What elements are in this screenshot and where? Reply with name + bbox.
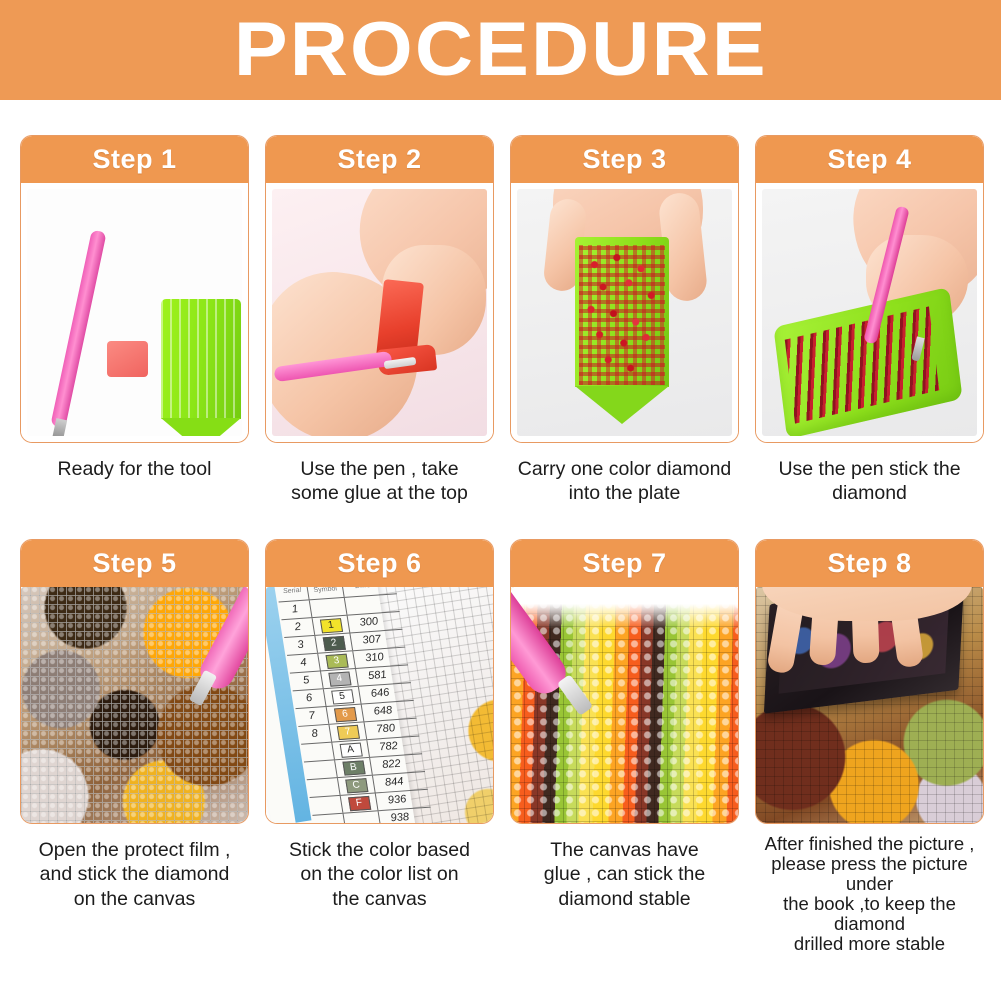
step-caption-3: Carry one color diamond into the plate bbox=[507, 457, 742, 506]
step-image-2 bbox=[266, 183, 493, 442]
symbol-swatch: 2 bbox=[322, 635, 345, 650]
step-image-4 bbox=[756, 183, 983, 442]
step-header-label-4: Step 4 bbox=[827, 144, 911, 175]
cell-symbol: B bbox=[335, 758, 373, 777]
cell-serial bbox=[307, 778, 341, 797]
procedure-grid: Step 1 Ready for the tool Step bbox=[0, 135, 1001, 954]
step-header-6: Step 6 bbox=[266, 540, 493, 587]
cell-symbol: 1 bbox=[313, 615, 351, 634]
green-tray-icon bbox=[161, 299, 241, 419]
step-image-7 bbox=[511, 587, 738, 823]
step-cell-6: Step 6 Serial Symbol DMC bbox=[265, 539, 494, 954]
cell-dmc: 780 bbox=[365, 719, 408, 739]
cell-symbol bbox=[344, 811, 382, 823]
step-card-8: Step 8 bbox=[755, 539, 984, 824]
cell-symbol: 4 bbox=[321, 669, 359, 688]
step-card-4: Step 4 bbox=[755, 135, 984, 443]
step-caption-8: After finished the picture , please pres… bbox=[752, 834, 987, 954]
step-caption-4: Use the pen stick the diamond bbox=[752, 457, 987, 506]
green-tray-point-icon bbox=[161, 418, 241, 436]
step-image-6: Serial Symbol DMC 1213003230743310545816… bbox=[266, 587, 493, 823]
step-header-3: Step 3 bbox=[511, 136, 738, 183]
step-card-1: Step 1 bbox=[20, 135, 249, 443]
cell-serial bbox=[313, 813, 347, 822]
step-card-3: Step 3 bbox=[510, 135, 739, 443]
canvas-mosaic-photo bbox=[21, 587, 248, 823]
mosaic-texture bbox=[21, 587, 248, 823]
cell-serial: 7 bbox=[296, 707, 330, 726]
cell-serial: 5 bbox=[290, 671, 324, 690]
symbol-swatch: A bbox=[339, 742, 362, 757]
symbol-swatch: 5 bbox=[331, 689, 354, 704]
tray-diamonds-photo bbox=[517, 189, 732, 436]
step-cell-5: Step 5 Open the protect film , and stick bbox=[20, 539, 249, 954]
symbol-swatch: F bbox=[347, 795, 370, 810]
cell-dmc: 938 bbox=[379, 808, 422, 823]
step-cell-3: Step 3 Carry one color diamond into the … bbox=[510, 135, 739, 506]
step-image-5 bbox=[21, 587, 248, 823]
cell-dmc: 581 bbox=[356, 666, 399, 686]
drills-closeup-photo bbox=[511, 587, 738, 823]
step-header-5: Step 5 bbox=[21, 540, 248, 587]
step-header-8: Step 8 bbox=[756, 540, 983, 587]
drill-grid-lines bbox=[21, 587, 248, 823]
symbol-swatch: 6 bbox=[333, 706, 356, 721]
cell-symbol: 5 bbox=[324, 687, 362, 706]
step-card-2: Step 2 bbox=[265, 135, 494, 443]
step-card-7: Step 7 bbox=[510, 539, 739, 824]
step-header-label-7: Step 7 bbox=[582, 548, 666, 579]
step-caption-5: Open the protect film , and stick the di… bbox=[17, 838, 252, 911]
cell-serial bbox=[304, 760, 338, 779]
pink-pen-icon bbox=[50, 230, 106, 429]
step-header-label-1: Step 1 bbox=[92, 144, 176, 175]
step-caption-1: Ready for the tool bbox=[17, 457, 252, 481]
step-image-1 bbox=[21, 183, 248, 442]
cell-serial: 2 bbox=[282, 618, 316, 637]
procedure-row-2: Step 5 Open the protect film , and stick bbox=[0, 539, 1001, 954]
step-header-label-2: Step 2 bbox=[337, 144, 421, 175]
cell-dmc: 300 bbox=[348, 613, 391, 633]
step-cell-4: Step 4 Use the pen stick the diamond bbox=[755, 135, 984, 506]
procedure-row-1: Step 1 Ready for the tool Step bbox=[0, 135, 1001, 506]
cell-serial: 3 bbox=[284, 636, 318, 655]
step-header-4: Step 4 bbox=[756, 136, 983, 183]
step-caption-2: Use the pen , take some glue at the top bbox=[262, 457, 497, 506]
symbol-swatch: 1 bbox=[319, 617, 342, 632]
step-image-3 bbox=[511, 183, 738, 442]
cell-serial: 6 bbox=[293, 689, 327, 708]
step-header-label-5: Step 5 bbox=[92, 548, 176, 579]
glue-square-icon bbox=[107, 341, 148, 377]
cell-symbol: 7 bbox=[329, 722, 367, 741]
step-card-6: Step 6 Serial Symbol DMC bbox=[265, 539, 494, 824]
cell-dmc: 782 bbox=[367, 737, 410, 757]
page-title: PROCEDURE bbox=[234, 12, 768, 88]
step-cell-8: Step 8 After finished bbox=[755, 539, 984, 954]
symbol-swatch: 7 bbox=[336, 724, 359, 739]
symbol-swatch: 4 bbox=[328, 671, 351, 686]
cell-dmc: 310 bbox=[353, 648, 396, 668]
cell-symbol: C bbox=[338, 775, 376, 794]
green-tray-point-icon bbox=[575, 386, 669, 424]
step-cell-1: Step 1 Ready for the tool bbox=[20, 135, 249, 506]
cell-serial bbox=[310, 796, 344, 815]
step-cell-2: Step 2 Use the pen , take some glue at t… bbox=[265, 135, 494, 506]
cell-dmc: 646 bbox=[359, 684, 402, 704]
cell-serial bbox=[301, 742, 335, 761]
cell-serial: 1 bbox=[279, 600, 313, 619]
cell-dmc: 307 bbox=[350, 630, 393, 650]
cell-dmc: 936 bbox=[376, 790, 419, 810]
symbol-swatch: B bbox=[342, 760, 365, 775]
page-banner: PROCEDURE bbox=[0, 0, 1001, 100]
cell-symbol bbox=[310, 598, 348, 617]
canvas-blank-area bbox=[511, 587, 738, 629]
cell-dmc: 844 bbox=[373, 773, 416, 793]
cell-serial: 8 bbox=[298, 725, 332, 744]
cell-symbol: 2 bbox=[315, 633, 353, 652]
symbol-swatch: C bbox=[345, 777, 368, 792]
step-caption-7: The canvas have glue , can stick the dia… bbox=[507, 838, 742, 911]
cell-symbol: 3 bbox=[318, 651, 356, 670]
color-chart-photo: Serial Symbol DMC 1213003230743310545816… bbox=[266, 587, 493, 823]
step-header-1: Step 1 bbox=[21, 136, 248, 183]
symbol-swatch: 3 bbox=[325, 653, 348, 668]
step-header-label-8: Step 8 bbox=[827, 548, 911, 579]
step-card-5: Step 5 bbox=[20, 539, 249, 824]
cell-dmc bbox=[345, 595, 388, 615]
press-book-photo bbox=[756, 587, 983, 823]
tool-photo bbox=[27, 189, 242, 436]
cell-dmc: 648 bbox=[362, 701, 405, 721]
pen-pick-diamond-photo bbox=[762, 189, 977, 436]
step-cell-7: Step 7 The canvas have glue , can stick … bbox=[510, 539, 739, 954]
cell-symbol: 6 bbox=[327, 704, 365, 723]
column-header-serial: Serial bbox=[276, 587, 310, 601]
step-header-label-6: Step 6 bbox=[337, 548, 421, 579]
cell-serial: 4 bbox=[287, 653, 321, 672]
red-diamond-drills-icon bbox=[579, 245, 665, 385]
cell-symbol: A bbox=[332, 740, 370, 759]
cell-symbol: F bbox=[341, 793, 379, 812]
glue-dipping-photo bbox=[272, 189, 487, 436]
step-header-2: Step 2 bbox=[266, 136, 493, 183]
step-caption-6: Stick the color based on the color list … bbox=[262, 838, 497, 911]
cell-dmc: 822 bbox=[370, 755, 413, 775]
step-image-8 bbox=[756, 587, 983, 823]
step-header-7: Step 7 bbox=[511, 540, 738, 587]
step-header-label-3: Step 3 bbox=[582, 144, 666, 175]
